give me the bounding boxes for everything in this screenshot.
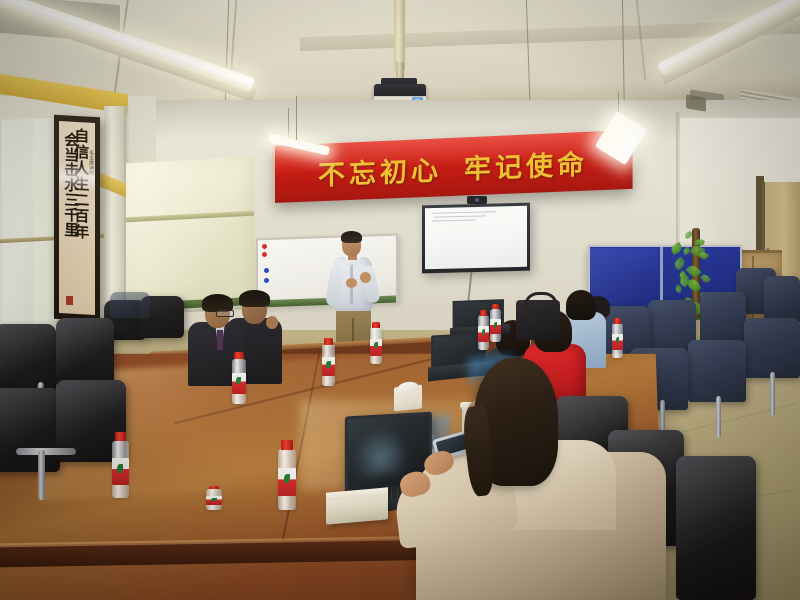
bottle-cap-icon xyxy=(480,310,487,316)
chair-highlight xyxy=(0,388,60,472)
water-bottle[interactable] xyxy=(490,304,501,342)
chair-highlight xyxy=(0,324,56,398)
water-bottle[interactable] xyxy=(612,318,623,358)
bottle-cap-icon xyxy=(324,338,333,345)
bottle-cap-icon xyxy=(281,440,293,450)
chair-leg xyxy=(38,450,45,500)
whiteboard-magnet-icon xyxy=(262,252,267,257)
bottle-leaf-logo-icon xyxy=(374,342,378,348)
chair-highlight xyxy=(676,456,756,600)
laptop-screen-glow xyxy=(353,426,408,479)
water-bottle[interactable] xyxy=(206,486,222,510)
camera-lens-icon xyxy=(475,198,479,202)
bottle-cap-icon xyxy=(372,322,380,328)
attendee-tie xyxy=(217,330,223,350)
scroll-glare xyxy=(59,163,95,191)
bottle-cap-icon xyxy=(115,432,126,441)
chair-leg xyxy=(770,372,775,416)
calligraphy-seal-icon xyxy=(66,296,73,305)
presenter-hand-left xyxy=(346,278,357,288)
banner-text-right: 牢记使命 xyxy=(464,142,588,186)
blue-chair[interactable] xyxy=(110,292,150,318)
blue-chair[interactable] xyxy=(744,318,800,378)
presenter-hair xyxy=(341,231,362,243)
hanging-wire xyxy=(296,96,297,140)
attendee-hair xyxy=(239,290,270,307)
blue-chair[interactable] xyxy=(688,340,746,402)
bottle-cap-icon xyxy=(492,304,499,309)
chair-leg xyxy=(716,396,721,438)
water-bottle[interactable] xyxy=(112,432,129,498)
presenter-hand-right xyxy=(360,272,371,283)
bottle-leaf-logo-icon xyxy=(494,322,498,327)
whiteboard-magnet-icon xyxy=(262,244,267,249)
blue-chair[interactable] xyxy=(764,276,800,324)
bottle-leaf-logo-icon xyxy=(211,498,216,501)
bag-handle xyxy=(524,292,558,309)
bottle-cap-icon xyxy=(209,486,220,489)
whiteboard-magnet-icon xyxy=(264,268,269,273)
conference-room-photo: 自信人生二百年 会当击水三千里 毛主席诗句 不忘初心 牢记使命 xyxy=(0,0,800,600)
chair-highlight xyxy=(56,318,114,388)
eyeglasses-icon xyxy=(216,310,234,317)
water-bottle[interactable] xyxy=(370,322,382,364)
bottle-leaf-logo-icon xyxy=(326,361,330,368)
water-bottle[interactable] xyxy=(478,310,489,350)
banner-text-left: 不忘初心 xyxy=(318,148,442,192)
blinds-daylight-glow xyxy=(126,157,254,310)
attendee-hair xyxy=(566,290,596,320)
bottle-cap-icon xyxy=(614,318,621,324)
whiteboard-magnet-icon xyxy=(264,278,269,283)
bottle-cap-icon xyxy=(234,352,243,359)
attendee-hand xyxy=(266,316,278,329)
water-bottle[interactable] xyxy=(232,352,246,404)
water-bottle[interactable] xyxy=(322,338,335,386)
water-bottle[interactable] xyxy=(278,440,296,510)
chair-armrest xyxy=(16,448,76,455)
projector-mount-pole xyxy=(394,0,405,70)
